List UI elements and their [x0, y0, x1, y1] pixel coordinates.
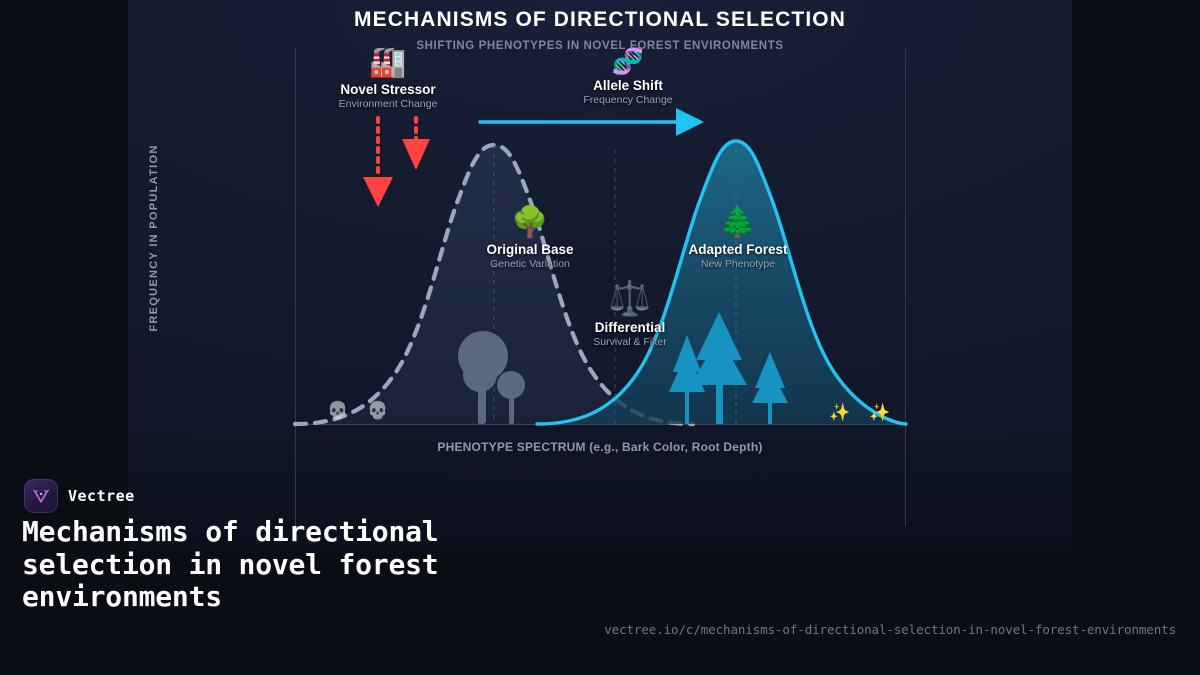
factory-emoji: 🏭	[288, 48, 488, 78]
annotation-subtitle: Genetic Variation	[420, 258, 640, 270]
page-subtitle: SHIFTING PHENOTYPES IN NOVEL FOREST ENVI…	[128, 40, 1072, 52]
page-title: MECHANISMS OF DIRECTIONAL SELECTION	[128, 8, 1072, 32]
stressor-arrow-head-long	[363, 177, 393, 207]
annotation-subtitle: Frequency Change	[528, 94, 728, 106]
headline: Mechanisms of directional selection in n…	[22, 516, 542, 614]
annotation-title: Novel Stressor	[288, 82, 488, 97]
annotation-subtitle: New Phenotype	[628, 258, 848, 270]
balance-scale-emoji: ⚖️	[540, 282, 720, 316]
stressor-arrow-head-short	[402, 139, 430, 170]
brand-name: Vectree	[68, 487, 135, 505]
page-url: vectree.io/c/mechanisms-of-directional-s…	[604, 622, 1176, 637]
svg-text:✨: ✨	[829, 403, 850, 422]
allele-arrow-head	[676, 108, 704, 136]
vectree-logo-icon	[24, 479, 58, 513]
annotation-title: Differential	[540, 320, 720, 335]
allele-shift-arrow	[480, 108, 704, 136]
deciduous-tree-emoji: 🌳	[420, 208, 640, 238]
annotation-differential: ⚖️ Differential Survival & Filter	[540, 282, 720, 348]
slide-canvas: MECHANISMS OF DIRECTIONAL SELECTION SHIF…	[0, 0, 1200, 675]
evergreen-tree-emoji: 🌲	[628, 208, 848, 238]
annotation-subtitle: Environment Change	[288, 98, 488, 110]
brand-lockup[interactable]: Vectree	[24, 479, 135, 513]
svg-text:💀: 💀	[327, 400, 348, 420]
chart-panel: MECHANISMS OF DIRECTIONAL SELECTION SHIF…	[128, 0, 1072, 550]
vectree-glyph	[31, 486, 51, 506]
x-axis-label: PHENOTYPE SPECTRUM (e.g., Bark Color, Ro…	[128, 440, 1072, 454]
annotation-title: Allele Shift	[528, 78, 728, 93]
annotation-original-base: 🌳 Original Base Genetic Variation	[420, 208, 640, 270]
annotation-novel-stressor: 🏭 Novel Stressor Environment Change	[288, 48, 488, 110]
svg-text:✨: ✨	[869, 403, 890, 422]
annotation-title: Adapted Forest	[628, 242, 848, 257]
stressor-arrow-group	[363, 118, 430, 207]
annotation-title: Original Base	[420, 242, 640, 257]
annotation-allele-shift: 🧬 Allele Shift Frequency Change	[528, 48, 728, 106]
annotation-subtitle: Survival & Filter	[540, 336, 720, 348]
svg-text:💀: 💀	[367, 400, 388, 420]
y-axis-label: FREQUENCY IN POPULATION	[148, 138, 160, 338]
annotation-adapted-forest: 🌲 Adapted Forest New Phenotype	[628, 208, 848, 270]
